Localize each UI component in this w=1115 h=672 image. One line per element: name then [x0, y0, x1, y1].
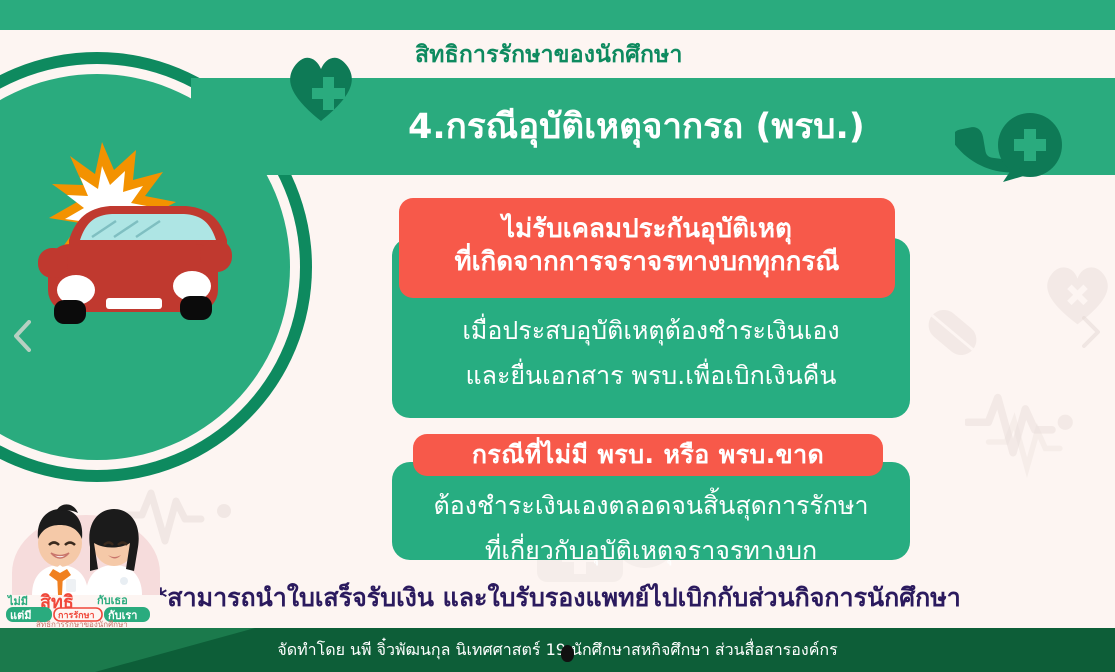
brand-logo: ไม่มี สิทธิ กับเธอ แต่มี การรักษา กับเรา…: [4, 495, 168, 627]
watermark-heart-icon: [1040, 258, 1115, 328]
footer-credit-text: จัดทำโดย นพี จิ๋วพัฒนกุล นิเทศศาสตร์ 19 …: [0, 628, 1115, 672]
card-1-body-line-1: เมื่อประสบอุบัติเหตุต้องชำระเงินเอง: [392, 308, 910, 353]
card-1-heading-pill: ไม่รับเคลมประกันอุบัติเหตุ ที่เกิดจากการ…: [399, 198, 895, 298]
card-2-body-line-2: ที่เกี่ยวกับอุบัติเหตุจราจรทางบก: [392, 528, 910, 573]
svg-text:ไม่มี: ไม่มี: [6, 594, 28, 608]
infographic-canvas: สิทธิการรักษาของนักศึกษา 4.กรณีอุบัติเหต…: [0, 0, 1115, 672]
phone-bubble-plus-icon: [955, 108, 1065, 228]
top-accent-strip: [0, 0, 1115, 30]
watermark-pill-capsule: [905, 285, 1000, 380]
watermark-chevron-right: [1080, 315, 1102, 349]
mouse-cursor: [561, 645, 574, 662]
chevron-left-icon[interactable]: [10, 318, 36, 354]
card-1-heading-line-1: ไม่รับเคลมประกันอุบัติเหตุ: [502, 213, 792, 246]
page-kicker: สิทธิการรักษาของนักศึกษา: [415, 38, 1115, 72]
svg-text:กับเธอ: กับเธอ: [97, 594, 128, 607]
card-2-body-line-1: ต้องชำระเงินเองตลอดจนสิ้นสุดการรักษา: [392, 483, 910, 528]
svg-text:สิทธิการรักษาของนักศึกษา: สิทธิการรักษาของนักศึกษา: [36, 620, 128, 627]
footer-bar: จัดทำโดย นพี จิ๋วพัฒนกุล นิเทศศาสตร์ 19 …: [0, 628, 1115, 672]
card-2-heading-pill: กรณีที่ไม่มี พรบ. หรือ พรบ.ขาด: [413, 434, 883, 476]
watermark-heartbeat-line: [965, 370, 1080, 465]
heart-cross-icon: [283, 47, 359, 125]
page-title: 4.กรณีอุบัติเหตุจากรถ (พรบ.): [408, 96, 1028, 158]
card-1-body-line-2: และยื่นเอกสาร พรบ.เพื่อเบิกเงินคืน: [392, 353, 910, 398]
card-1-heading-line-2: ที่เกิดจากการจราจรทางบกทุกกรณี: [455, 246, 840, 279]
watermark-heartbeat-line-2: [985, 398, 1085, 478]
svg-text:แต่มี: แต่มี: [10, 609, 31, 622]
